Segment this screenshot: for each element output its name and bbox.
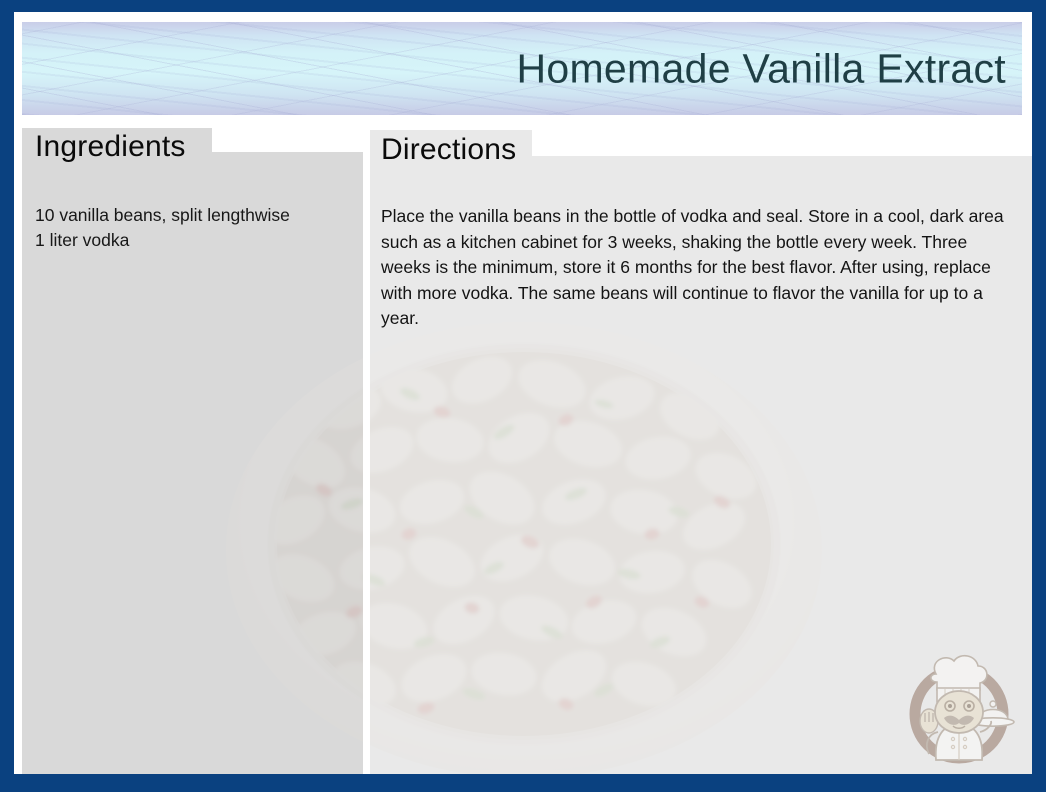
directions-text: Place the vanilla beans in the bottle of… (381, 204, 1017, 332)
panel-divider (363, 128, 370, 774)
list-item: 10 vanilla beans, split lengthwise (35, 203, 355, 228)
recipe-slide: Homemade Vanilla Extract (0, 0, 1046, 792)
title-banner: Homemade Vanilla Extract (22, 22, 1022, 115)
directions-heading: Directions (381, 135, 516, 165)
slide-content-area: Homemade Vanilla Extract (14, 12, 1032, 774)
ingredients-list: 10 vanilla beans, split lengthwise 1 lit… (35, 203, 355, 253)
page-title: Homemade Vanilla Extract (516, 48, 1006, 89)
ingredients-heading: Ingredients (35, 132, 186, 162)
chef-mascot-logo (896, 644, 1022, 770)
list-item: 1 liter vodka (35, 228, 355, 253)
ingredients-tab-notch (212, 128, 363, 152)
directions-tab-notch (532, 130, 1032, 156)
ingredients-panel: Ingredients 10 vanilla beans, split leng… (22, 128, 363, 774)
